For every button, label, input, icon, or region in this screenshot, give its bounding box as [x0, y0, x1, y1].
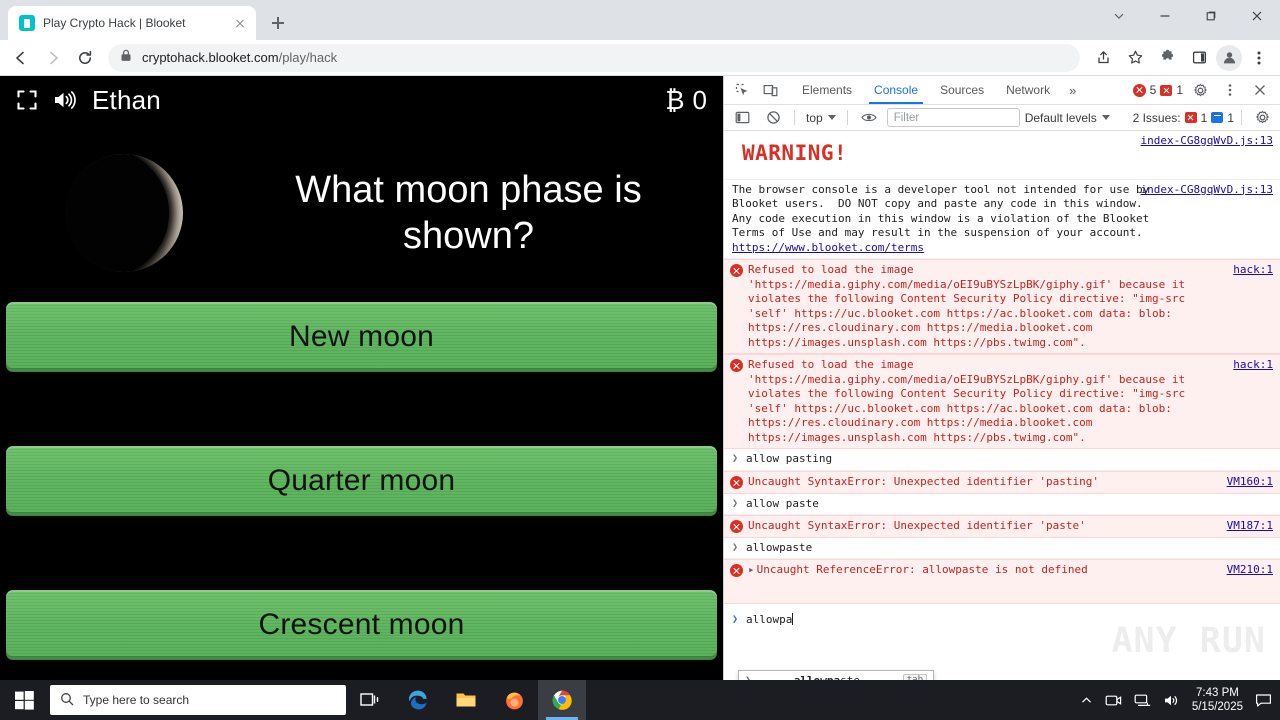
- devtools-close-icon[interactable]: [1247, 78, 1273, 102]
- error-icon: [1133, 84, 1146, 97]
- minimize-icon[interactable]: [1142, 0, 1188, 32]
- task-view-icon[interactable]: [346, 680, 394, 720]
- camera-icon[interactable]: [1105, 693, 1122, 708]
- search-placeholder: Type here to search: [83, 693, 189, 707]
- extensions-puzzle-icon[interactable]: [1152, 43, 1182, 73]
- execution-context-select[interactable]: top: [803, 111, 839, 125]
- issues-info-count: 1: [1227, 111, 1234, 125]
- answer-button-1[interactable]: New moon: [6, 302, 717, 372]
- more-tabs-icon[interactable]: »: [1061, 83, 1084, 98]
- divider: [1241, 110, 1242, 125]
- search-icon: [60, 692, 74, 709]
- maximize-icon[interactable]: [1188, 0, 1234, 32]
- device-toolbar-icon[interactable]: [757, 78, 783, 102]
- tab-close-icon[interactable]: [232, 15, 248, 31]
- start-button[interactable]: [0, 680, 48, 720]
- tab-sources[interactable]: Sources: [929, 76, 995, 104]
- devtools-toolbar: Elements Console Sources Network » 5 1: [724, 76, 1280, 105]
- error-text: Uncaught SyntaxError: Unexpected identif…: [748, 475, 1274, 490]
- source-link[interactable]: VM160:1: [1227, 475, 1273, 490]
- chevron-down-icon[interactable]: [1096, 0, 1142, 32]
- browser-tab[interactable]: Play Crypto Hack | Blooket: [8, 6, 256, 40]
- expand-arrow-icon[interactable]: ▸: [748, 563, 755, 576]
- log-levels-select[interactable]: Default levels: [1025, 111, 1110, 125]
- clock-date: 5/15/2025: [1192, 700, 1243, 714]
- terms-link[interactable]: https://www.blooket.com/terms: [732, 241, 924, 254]
- action-center-icon[interactable]: [1255, 693, 1272, 708]
- console-command-2: allow paste: [724, 494, 1280, 516]
- clear-console-icon[interactable]: [760, 106, 786, 130]
- profile-avatar[interactable]: [1216, 45, 1242, 71]
- clock-time: 7:43 PM: [1192, 686, 1243, 700]
- settings-gear-icon[interactable]: [1187, 78, 1213, 102]
- console-prompt[interactable]: allowpa: [724, 610, 1280, 631]
- issues-info-icon: [1211, 112, 1223, 123]
- console-message-error-reference: VM210:1 ▸Uncaught ReferenceError: allowp…: [724, 559, 1280, 604]
- firefox-icon[interactable]: [490, 680, 538, 720]
- bookmark-star-icon[interactable]: [1120, 43, 1150, 73]
- console-input-value: allowpa: [746, 613, 792, 626]
- source-link[interactable]: VM187:1: [1227, 519, 1273, 534]
- question-area: What moon phase is shown?: [0, 124, 723, 302]
- new-tab-button[interactable]: [264, 9, 292, 37]
- coin-count: 0: [693, 85, 707, 116]
- chevron-down-icon: [828, 115, 836, 120]
- fullscreen-icon[interactable]: [16, 89, 38, 111]
- issues-bar[interactable]: 2 Issues: 1 1: [1133, 106, 1275, 130]
- share-icon[interactable]: [1088, 43, 1118, 73]
- prompt-arrow-icon: ❯: [745, 674, 751, 680]
- answer-list: New moon Quarter moon Crescent moon Gibb…: [0, 302, 723, 680]
- question-text: What moon phase is shown?: [248, 167, 723, 260]
- system-tray: 7:43 PM 5/15/2025: [1080, 686, 1280, 715]
- issues-error-icon: [1185, 112, 1197, 123]
- error-text: Refused to load the image 'https://media…: [748, 263, 1274, 350]
- three-dot-menu-icon[interactable]: [1244, 43, 1274, 73]
- google-chrome-icon[interactable]: [538, 680, 586, 720]
- tab-elements[interactable]: Elements: [791, 76, 863, 104]
- console-message-error-syntax-2: VM187:1 Uncaught SyntaxError: Unexpected…: [724, 515, 1280, 538]
- console-message-warning-body: index-CG8gqWvD.js:13 The browser console…: [724, 180, 1280, 260]
- divider: [847, 110, 848, 125]
- source-link[interactable]: hack:1: [1233, 263, 1273, 278]
- console-message-error-csp-1: hack:1 Refused to load the image 'https:…: [724, 259, 1280, 354]
- taskbar-clock[interactable]: 7:43 PM 5/15/2025: [1192, 686, 1243, 715]
- error-count: 5: [1150, 83, 1157, 97]
- source-link[interactable]: index-CG8gqWvD.js:13: [1141, 183, 1273, 198]
- text-cursor: [792, 613, 793, 625]
- bitcoin-icon: ₿: [665, 85, 684, 116]
- blooket-favicon-icon: [19, 15, 35, 31]
- coin-counter: ₿ 0: [665, 85, 707, 116]
- devtools-panel: Elements Console Sources Network » 5 1: [723, 76, 1280, 680]
- show-hidden-icons[interactable]: [1080, 694, 1093, 707]
- source-link[interactable]: VM210:1: [1227, 563, 1273, 578]
- address-bar[interactable]: cryptohack.blooket.com/play/hack: [108, 44, 1080, 72]
- console-filter-bar: top Filter Default levels 2 Issues: 1: [724, 105, 1280, 131]
- error-icon: [730, 520, 743, 533]
- error-icon: [730, 359, 743, 372]
- console-command-3: allowpaste: [724, 538, 1280, 560]
- autocomplete-tab-hint: tab: [903, 674, 927, 680]
- error-icon: [730, 564, 743, 577]
- blooket-game: Ethan ₿ 0 What moon phase is shown? New …: [0, 76, 723, 680]
- issues-label: 2 Issues:: [1133, 111, 1181, 125]
- console-message-error-syntax-1: VM160:1 Uncaught SyntaxError: Unexpected…: [724, 471, 1280, 494]
- volume-icon[interactable]: [1163, 693, 1180, 708]
- forward-icon[interactable]: [38, 43, 68, 73]
- warning-count: 1: [1176, 83, 1183, 97]
- console-autocomplete-popup[interactable]: ❯ allowpaste tab: [738, 670, 934, 680]
- divider: [794, 110, 795, 125]
- url-text: cryptohack.blooket.com/play/hack: [142, 50, 337, 65]
- source-link[interactable]: hack:1: [1233, 358, 1273, 373]
- page-content: Ethan ₿ 0 What moon phase is shown? New …: [0, 76, 1280, 680]
- warning-icon: [1160, 85, 1172, 96]
- devtools-tabs: Elements Console Sources Network »: [791, 76, 1084, 104]
- live-expression-eye-icon[interactable]: [856, 106, 882, 130]
- windows-taskbar: Type here to search: [0, 680, 1280, 720]
- error-text: Uncaught SyntaxError: Unexpected identif…: [748, 519, 1274, 534]
- devtools-menu-icon[interactable]: [1217, 78, 1243, 102]
- crescent-moon-icon: [65, 154, 183, 272]
- inspect-element-icon[interactable]: [729, 78, 755, 102]
- volume-icon[interactable]: [52, 89, 78, 111]
- browser-toolbar: cryptohack.blooket.com/play/hack: [0, 40, 1280, 76]
- chevron-down-icon: [1102, 115, 1110, 120]
- answer-button-3[interactable]: Crescent moon: [6, 590, 717, 660]
- console-message-warning-title: index-CG8gqWvD.js:13 WARNING!: [724, 131, 1280, 180]
- filter-input[interactable]: Filter: [887, 108, 1020, 127]
- close-icon[interactable]: [1234, 0, 1280, 32]
- error-icon: [730, 476, 743, 489]
- player-name: Ethan: [92, 85, 161, 116]
- question-image: [0, 124, 248, 302]
- tab-console[interactable]: Console: [863, 76, 929, 104]
- browser-window: Play Crypto Hack | Blooket: [0, 0, 1280, 680]
- console-command-1: allow pasting: [724, 449, 1280, 471]
- devtools-issue-counts: 5 1: [1133, 78, 1275, 102]
- autocomplete-suggestion[interactable]: allowpaste: [757, 674, 897, 680]
- error-icon: [730, 264, 743, 277]
- tab-network[interactable]: Network: [995, 76, 1061, 104]
- side-panel-icon[interactable]: [1184, 43, 1214, 73]
- taskbar-search[interactable]: Type here to search: [50, 685, 346, 715]
- error-text: Refused to load the image 'https://media…: [748, 358, 1274, 445]
- back-icon[interactable]: [6, 43, 36, 73]
- error-text: ▸Uncaught ReferenceError: allowpaste is …: [748, 563, 1274, 578]
- reload-icon[interactable]: [70, 43, 100, 73]
- window-controls: [1096, 0, 1280, 40]
- network-icon[interactable]: [1134, 693, 1151, 708]
- console-settings-gear-icon[interactable]: [1249, 106, 1275, 130]
- console-message-error-csp-2: hack:1 Refused to load the image 'https:…: [724, 354, 1280, 449]
- tab-title: Play Crypto Hack | Blooket: [43, 16, 224, 30]
- source-link[interactable]: index-CG8gqWvD.js:13: [1141, 134, 1273, 149]
- answer-button-2[interactable]: Quarter moon: [6, 446, 717, 516]
- file-explorer-icon[interactable]: [442, 680, 490, 720]
- microsoft-edge-icon[interactable]: [394, 680, 442, 720]
- tab-strip: Play Crypto Hack | Blooket: [0, 0, 1280, 40]
- lock-icon: [120, 49, 132, 67]
- console-output[interactable]: index-CG8gqWvD.js:13 WARNING! index-CG8g…: [724, 131, 1280, 680]
- issues-error-count: 1: [1201, 111, 1208, 125]
- game-header: Ethan ₿ 0: [0, 76, 723, 124]
- console-sidebar-icon[interactable]: [729, 106, 755, 130]
